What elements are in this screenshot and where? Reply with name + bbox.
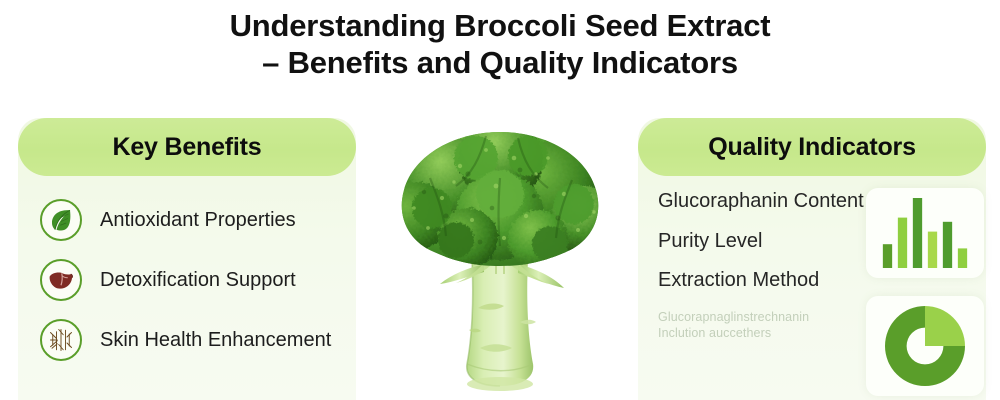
benefit-label-detoxification: Detoxification Support (100, 269, 296, 292)
benefit-list: Antioxidant Properties Detoxification Su… (18, 190, 356, 370)
donut-slice-minor (925, 306, 965, 346)
skin-icon (40, 319, 82, 361)
broccoli-image (368, 112, 632, 400)
bar-5 (943, 222, 952, 268)
indicator-caption-line-2: Inclution auccethers (658, 326, 771, 340)
title-line-2: – Benefits and Quality Indicators (0, 45, 1000, 82)
leaf-icon (40, 199, 82, 241)
benefit-label-antioxidant: Antioxidant Properties (100, 209, 296, 232)
quality-bar-chart (866, 188, 984, 278)
key-benefits-header-label: Key Benefits (112, 133, 261, 162)
indicator-item-glucoraphanin[interactable]: Glucoraphanin Content (658, 190, 873, 214)
bar-3 (913, 198, 922, 268)
benefit-label-skin-health: Skin Health Enhancement (100, 329, 331, 352)
key-benefits-header: Key Benefits (18, 118, 356, 176)
benefit-item-antioxidant[interactable]: Antioxidant Properties (18, 190, 356, 250)
quality-indicators-header: Quality Indicators (638, 118, 986, 176)
indicator-list: Glucoraphanin Content Purity Level Extra… (658, 190, 873, 341)
key-benefits-panel: Key Benefits Antioxidant Properties (18, 118, 356, 400)
quality-indicators-header-label: Quality Indicators (708, 133, 916, 162)
liver-icon (40, 259, 82, 301)
quality-donut-chart (866, 296, 984, 396)
indicator-item-extraction[interactable]: Extraction Method (658, 269, 873, 293)
quality-indicators-panel: Quality Indicators Glucoraphanin Content… (638, 118, 986, 400)
benefit-item-detoxification[interactable]: Detoxification Support (18, 250, 356, 310)
broccoli-head (382, 118, 618, 282)
bar-6 (958, 248, 967, 268)
indicator-item-purity[interactable]: Purity Level (658, 230, 873, 254)
bar-1 (883, 244, 892, 268)
page-title: Understanding Broccoli Seed Extract – Be… (0, 8, 1000, 81)
title-line-1: Understanding Broccoli Seed Extract (0, 8, 1000, 45)
indicator-caption: Glucorapnaglinstrechnanin Inclution aucc… (658, 309, 873, 342)
bar-4 (928, 232, 937, 268)
broccoli-stalk (467, 260, 536, 391)
indicator-caption-line-1: Glucorapnaglinstrechnanin (658, 310, 809, 324)
bar-2 (898, 218, 907, 268)
benefit-item-skin-health[interactable]: Skin Health Enhancement (18, 310, 356, 370)
